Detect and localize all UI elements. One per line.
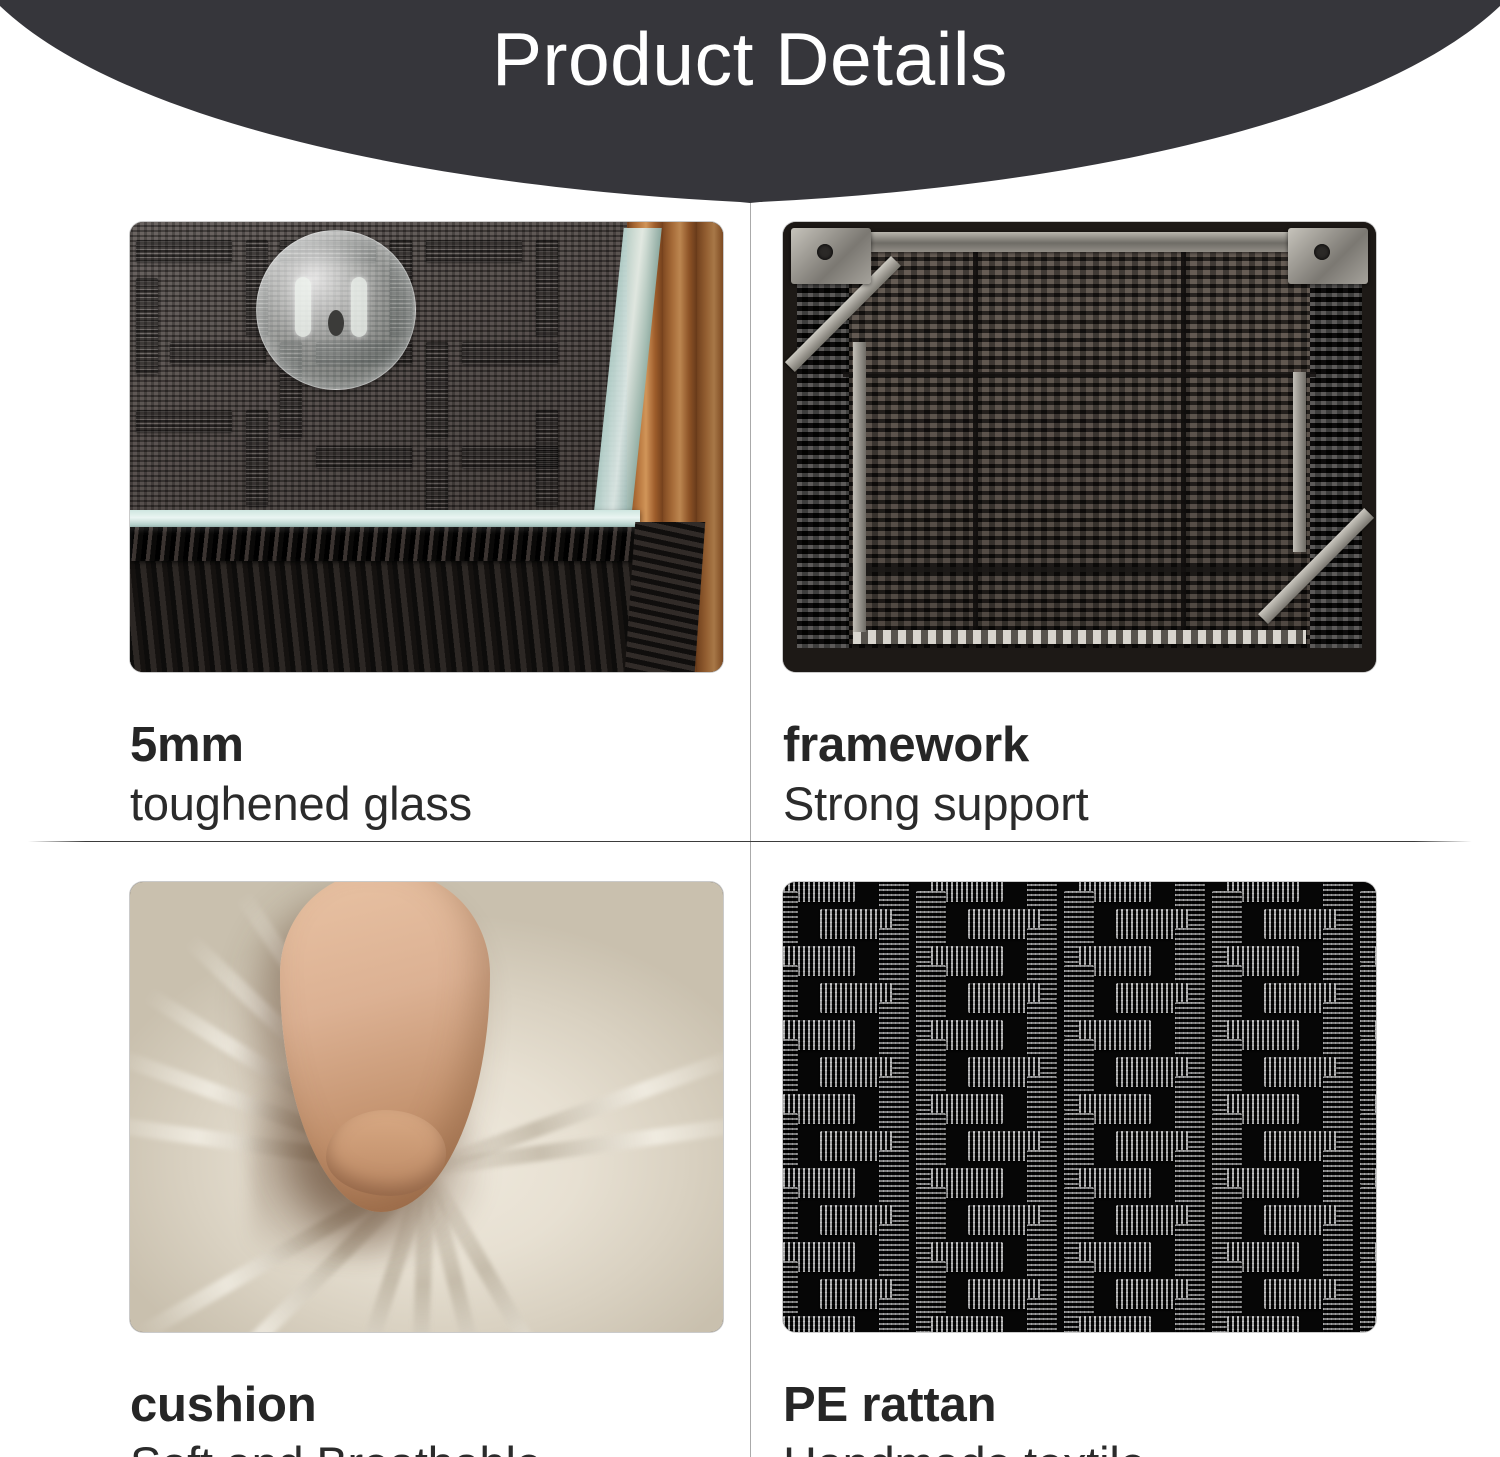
hand-knuckles	[326, 1110, 446, 1196]
vertical-divider	[750, 203, 751, 1457]
page-title: Product Details	[0, 22, 1500, 97]
rattan-rope-trim	[130, 527, 642, 561]
product-details-page: Product Details	[0, 0, 1500, 1457]
rattan-back-panel	[833, 244, 1326, 648]
table-corner-post	[625, 522, 705, 672]
detail-title-glass: 5mm	[130, 720, 723, 772]
panel-seam-horizontal	[843, 567, 1316, 572]
pe-rattan-weave	[783, 882, 1376, 1332]
detail-caption-glass: 5mm toughened glass	[130, 720, 723, 831]
suction-pad-center-dot	[328, 310, 344, 336]
detail-card-cushion: cushion Soft and Breathable	[130, 882, 723, 1457]
rattan-side-panel-right	[1310, 244, 1362, 648]
detail-image-cushion	[130, 882, 723, 1332]
detail-subtitle-rattan: Handmade textile	[783, 1438, 1376, 1457]
detail-card-rattan: PE rattan Handmade textile	[783, 882, 1376, 1457]
panel-seam	[1181, 250, 1186, 642]
detail-caption-cushion: cushion Soft and Breathable	[130, 1380, 723, 1457]
detail-title-framework: framework	[783, 720, 1376, 772]
detail-subtitle-framework: Strong support	[783, 778, 1376, 831]
vertical-support-right	[1293, 372, 1306, 552]
horizontal-divider	[28, 841, 1472, 842]
panel-seam	[973, 250, 978, 642]
detail-caption-rattan: PE rattan Handmade textile	[783, 1380, 1376, 1457]
detail-card-glass: 5mm toughened glass	[130, 222, 723, 831]
detail-caption-framework: framework Strong support	[783, 720, 1376, 831]
detail-image-framework	[783, 222, 1376, 672]
detail-image-rattan	[783, 882, 1376, 1332]
vertical-support-left	[853, 342, 866, 632]
panel-seam-horizontal	[843, 372, 1316, 377]
detail-title-rattan: PE rattan	[783, 1380, 1376, 1432]
detail-title-cushion: cushion	[130, 1380, 723, 1432]
detail-card-framework: framework Strong support	[783, 222, 1376, 831]
detail-image-glass	[130, 222, 723, 672]
detail-subtitle-glass: toughened glass	[130, 778, 723, 831]
corner-bracket-right	[1288, 228, 1368, 284]
header-banner: Product Details	[0, 0, 1500, 215]
metal-rail-top	[795, 232, 1364, 252]
detail-subtitle-cushion: Soft and Breathable	[130, 1438, 723, 1457]
corner-bracket-left	[791, 228, 871, 284]
metal-rail-bottom	[853, 630, 1306, 644]
